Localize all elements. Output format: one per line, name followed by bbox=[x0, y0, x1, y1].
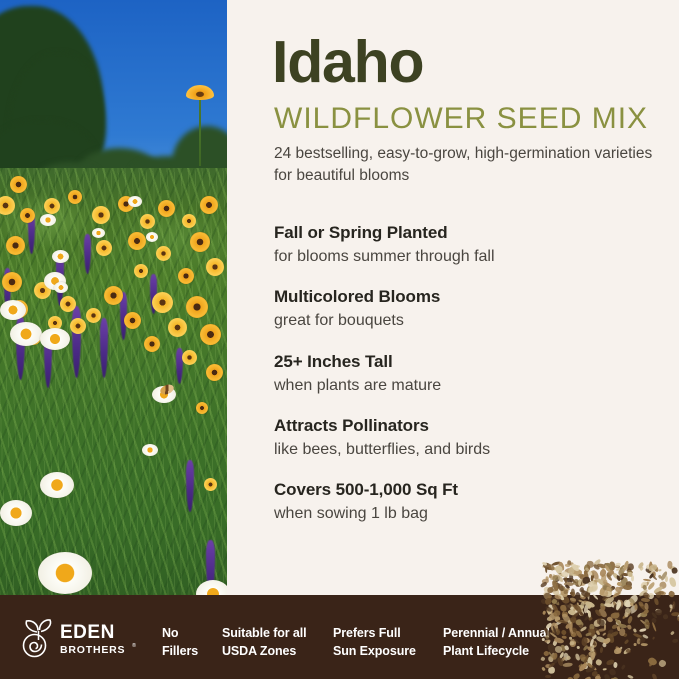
yellow-coneflower bbox=[186, 296, 208, 318]
yellow-coneflower bbox=[158, 200, 175, 217]
torn-paper-edge bbox=[0, 595, 679, 603]
feature-subtitle: great for bouquets bbox=[274, 309, 674, 332]
white-daisy bbox=[92, 228, 105, 238]
yellow-coneflower bbox=[10, 176, 27, 193]
yellow-coneflower bbox=[204, 478, 217, 491]
yellow-coneflower bbox=[86, 308, 101, 323]
yellow-coneflower bbox=[200, 324, 221, 345]
yellow-coneflower bbox=[60, 296, 76, 312]
footer-feature-usda-zones: Suitable for all USDA Zones bbox=[222, 625, 307, 661]
white-daisy bbox=[142, 444, 158, 456]
product-tagline: 24 bestselling, easy-to-grow, high-germi… bbox=[274, 143, 674, 188]
yellow-coneflower bbox=[196, 402, 208, 414]
yellow-coneflower bbox=[182, 350, 197, 365]
list-item: Multicolored Blooms great for bouquets bbox=[274, 286, 674, 332]
sprout-icon bbox=[24, 620, 51, 657]
flower-stem bbox=[199, 98, 201, 166]
white-daisy bbox=[40, 328, 70, 350]
feature-subtitle: when plants are mature bbox=[274, 374, 674, 397]
feature-subtitle: like bees, butterflies, and birds bbox=[274, 438, 674, 461]
yellow-coneflower bbox=[96, 240, 112, 256]
white-daisy bbox=[52, 250, 69, 263]
list-item: Covers 500-1,000 Sq Ft when sowing 1 lb … bbox=[274, 479, 674, 525]
yellow-coneflower bbox=[2, 272, 22, 292]
feature-subtitle: when sowing 1 lb bag bbox=[274, 502, 674, 525]
feature-list: Fall or Spring Planted for blooms summer… bbox=[274, 222, 674, 525]
list-item: 25+ Inches Tall when plants are mature bbox=[274, 351, 674, 397]
white-daisy bbox=[0, 500, 32, 526]
yellow-coneflower bbox=[206, 258, 224, 276]
feature-title: Covers 500-1,000 Sq Ft bbox=[274, 479, 674, 501]
yellow-coneflower bbox=[190, 232, 210, 252]
product-subtitle: WILDFLOWER SEED MIX bbox=[274, 104, 648, 134]
white-daisy bbox=[54, 282, 68, 293]
product-info-card: Idaho WILDFLOWER SEED MIX 24 bestselling… bbox=[0, 0, 679, 679]
feature-title: Multicolored Blooms bbox=[274, 286, 674, 308]
yellow-coneflower bbox=[92, 206, 110, 224]
yellow-coneflower bbox=[178, 268, 194, 284]
footer-feature-sun-exposure: Prefers Full Sun Exposure bbox=[333, 625, 416, 661]
yellow-coneflower bbox=[20, 208, 35, 223]
footer-bar: EDEN BROTHERS ® No Fillers Suitable for … bbox=[0, 595, 679, 679]
eden-brothers-logo[interactable]: EDEN BROTHERS ® bbox=[18, 618, 140, 658]
hero-yellow-flower bbox=[186, 85, 214, 100]
yellow-coneflower bbox=[68, 190, 82, 204]
product-details-panel: Idaho WILDFLOWER SEED MIX 24 bestselling… bbox=[227, 0, 679, 612]
footer-feature-plant-lifecycle: Perennial / Annual Plant Lifecycle bbox=[443, 625, 550, 661]
registered-mark: ® bbox=[132, 642, 136, 649]
feature-title: Fall or Spring Planted bbox=[274, 222, 674, 244]
white-daisy bbox=[128, 196, 142, 207]
yellow-coneflower bbox=[70, 318, 86, 334]
page-title: Idaho bbox=[272, 33, 423, 92]
yellow-coneflower bbox=[104, 286, 123, 305]
wildflower-meadow-photo bbox=[0, 0, 227, 612]
yellow-coneflower bbox=[140, 214, 155, 229]
feature-subtitle: for blooms summer through fall bbox=[274, 245, 674, 268]
white-daisy bbox=[10, 322, 42, 346]
feature-title: Attracts Pollinators bbox=[274, 415, 674, 437]
yellow-coneflower bbox=[182, 214, 196, 228]
brand-subname: BROTHERS bbox=[60, 644, 125, 656]
list-item: Attracts Pollinators like bees, butterfl… bbox=[274, 415, 674, 461]
yellow-coneflower bbox=[124, 312, 141, 329]
yellow-coneflower bbox=[152, 292, 173, 313]
yellow-coneflower bbox=[206, 364, 223, 381]
yellow-coneflower bbox=[44, 198, 60, 214]
feature-title: 25+ Inches Tall bbox=[274, 351, 674, 373]
white-daisy bbox=[146, 232, 158, 242]
list-item: Fall or Spring Planted for blooms summer… bbox=[274, 222, 674, 268]
brand-name: EDEN bbox=[60, 622, 115, 643]
yellow-coneflower bbox=[134, 264, 148, 278]
yellow-coneflower bbox=[144, 336, 160, 352]
yellow-coneflower bbox=[200, 196, 218, 214]
yellow-coneflower bbox=[156, 246, 171, 261]
yellow-coneflower bbox=[6, 236, 25, 255]
white-daisy bbox=[0, 300, 26, 320]
white-daisy bbox=[40, 472, 74, 498]
yellow-coneflower bbox=[168, 318, 187, 337]
white-daisy bbox=[38, 552, 92, 594]
footer-feature-no-fillers: No Fillers bbox=[162, 625, 198, 661]
yellow-coneflower bbox=[128, 232, 146, 250]
white-daisy bbox=[40, 214, 56, 226]
